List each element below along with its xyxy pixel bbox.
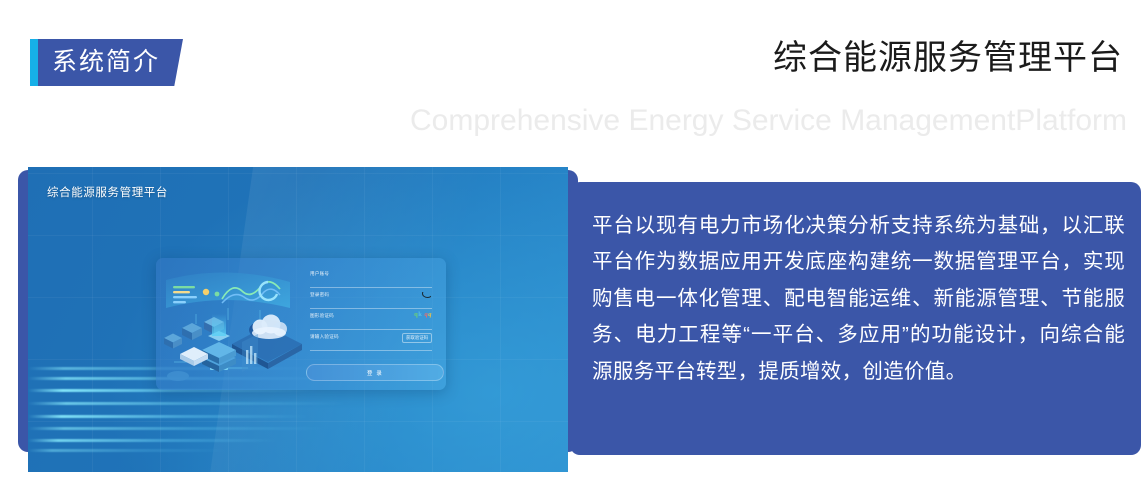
login-field-captcha-code[interactable]: 请输入验证码 获取验证码 (310, 332, 432, 353)
isometric-cloud-data-center-illustration (156, 258, 302, 390)
section-tag-accent-bar (30, 39, 39, 86)
section-tag-label: 系统简介 (38, 50, 160, 75)
light-streak (28, 439, 278, 442)
login-submit-button-label: 登 录 (367, 369, 383, 377)
page-title: 综合能源服务管理平台 (773, 38, 1123, 79)
login-field-captcha-image[interactable]: 图形验证码 qk qq (310, 311, 432, 332)
page-subtitle: Comprehensive Energy Service ManagementP… (410, 103, 1127, 139)
light-streak (28, 449, 228, 452)
description-box: 平台以现有电力市场化决策分析支持系统为基础，以汇联平台作为数据应用开发底座构建统… (570, 182, 1141, 455)
light-streak (28, 415, 308, 418)
product-screenshot-panel: 综合能源服务管理平台 (28, 167, 568, 472)
login-field-password[interactable]: 登录密码 (310, 290, 432, 311)
login-form: 用户账号 登录密码 图形验证码 qk qq 请输入验证码 (302, 258, 446, 390)
description-text: 平台以现有电力市场化决策分析支持系统为基础，以汇联平台作为数据应用开发底座构建统… (592, 208, 1125, 390)
captcha-image[interactable]: qk qq (414, 311, 432, 318)
login-submit-button[interactable]: 登 录 (306, 364, 444, 381)
light-streak (28, 427, 328, 430)
login-field-password-label: 登录密码 (310, 292, 329, 298)
login-field-account-underline (310, 287, 432, 288)
login-field-captcha-code-underline (310, 350, 432, 351)
slide-canvas: 系统简介 综合能源服务管理平台 Comprehensive Energy Ser… (0, 0, 1141, 491)
login-field-password-underline (310, 308, 432, 309)
login-field-account-label: 用户账号 (310, 271, 329, 277)
login-field-captcha-image-underline (310, 329, 432, 330)
light-streak (28, 402, 348, 405)
get-captcha-button[interactable]: 获取验证码 (402, 333, 432, 343)
login-field-captcha-code-label: 请输入验证码 (310, 334, 339, 340)
login-card: 用户账号 登录密码 图形验证码 qk qq 请输入验证码 (156, 258, 446, 390)
section-tag-banner: 系统简介 (38, 39, 183, 86)
login-field-captcha-image-label: 图形验证码 (310, 313, 334, 319)
login-field-account[interactable]: 用户账号 (310, 269, 432, 290)
eye-icon[interactable] (422, 292, 431, 298)
panel-logo-text: 综合能源服务管理平台 (47, 184, 168, 200)
